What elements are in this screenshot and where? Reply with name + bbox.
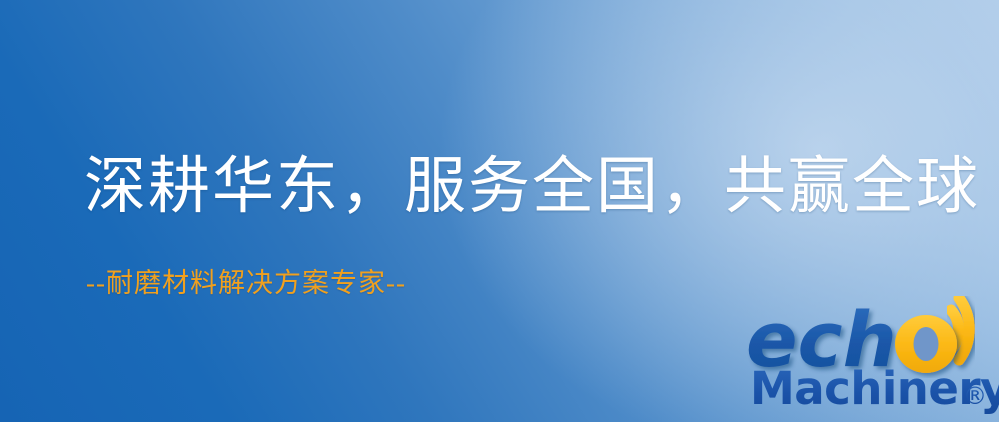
hero-banner: 深耕华东，服务全国，共赢全球 --耐磨材料解决方案专家--	[0, 0, 999, 422]
logo-machinery-text: Machinery	[750, 362, 999, 415]
page-title: 深耕华东，服务全国，共赢全球	[84, 150, 980, 224]
logo-trademark-symbol: ®	[963, 382, 987, 410]
page-subtitle: --耐磨材料解决方案专家--	[86, 266, 406, 300]
logo-subword: Machinery ®	[750, 358, 999, 422]
company-logo[interactable]: ech Machinery ®	[744, 296, 999, 422]
